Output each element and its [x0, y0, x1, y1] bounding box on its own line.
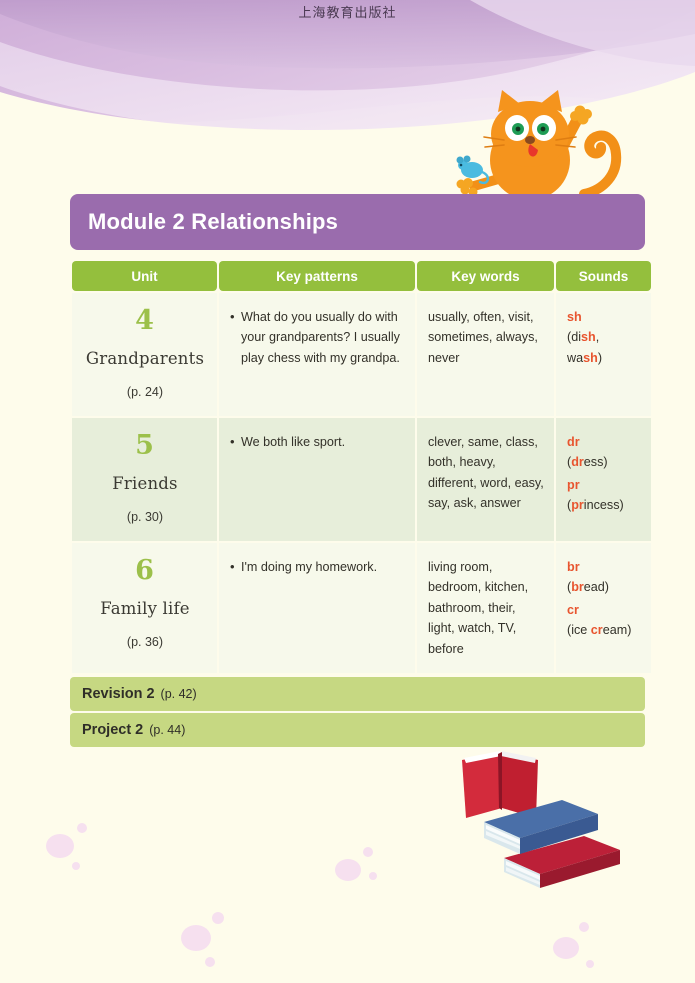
- unit-page: (p. 30): [83, 507, 207, 527]
- revision-page: (p. 42): [161, 687, 197, 701]
- sound-key: pr: [567, 475, 641, 495]
- sounds-cell: br (bread) cr (ice cream): [556, 543, 651, 673]
- sound-key: dr: [567, 432, 641, 452]
- sound-group: pr (princess): [567, 475, 641, 516]
- module-content: Module 2 Relationships Unit Key patterns…: [70, 194, 645, 747]
- sound-example: wash): [567, 348, 641, 368]
- unit-name: Grandparents: [83, 346, 207, 373]
- module-header: Module 2 Relationships: [70, 194, 645, 250]
- sound-example: (princess): [567, 495, 641, 515]
- key-words-cell: clever, same, class, both, heavy, differ…: [417, 418, 554, 541]
- table-row: 6 Family life (p. 36) I'm doing my homew…: [72, 543, 651, 673]
- key-words-cell: living room, bedroom, kitchen, bathroom,…: [417, 543, 554, 673]
- sound-group: dr (dress): [567, 432, 641, 473]
- sound-example: (ice cream): [567, 620, 641, 640]
- sound-key: sh: [567, 307, 641, 327]
- publisher-name: 上海教育出版社: [0, 2, 695, 21]
- unit-cell: 5 Friends (p. 30): [72, 418, 217, 541]
- unit-number: 4: [83, 307, 207, 334]
- key-patterns-cell: I'm doing my homework.: [219, 543, 415, 673]
- key-patterns-cell: We both like sport.: [219, 418, 415, 541]
- key-pattern-item: We both like sport.: [230, 432, 405, 452]
- column-header-sounds: Sounds: [556, 261, 651, 291]
- sounds-cell: sh (dish, wash): [556, 293, 651, 416]
- table-row: 4 Grandparents (p. 24) What do you usual…: [72, 293, 651, 416]
- syllabus-table: Unit Key patterns Key words Sounds 4 Gra…: [70, 259, 653, 675]
- unit-name: Friends: [83, 471, 207, 498]
- sound-key: br: [567, 557, 641, 577]
- revision-title: Revision 2: [82, 686, 155, 702]
- sound-example: (dish,: [567, 327, 641, 347]
- column-header-key-words: Key words: [417, 261, 554, 291]
- sound-group: cr (ice cream): [567, 600, 641, 641]
- column-header-unit: Unit: [72, 261, 217, 291]
- key-pattern-item: I'm doing my homework.: [230, 557, 405, 577]
- key-pattern-item: What do you usually do with your grandpa…: [230, 307, 405, 368]
- unit-number: 6: [83, 557, 207, 584]
- sound-group: sh (dish, wash): [567, 307, 641, 368]
- unit-cell: 4 Grandparents (p. 24): [72, 293, 217, 416]
- sounds-cell: dr (dress) pr (princess): [556, 418, 651, 541]
- unit-name: Family life: [83, 596, 207, 623]
- sound-example: (bread): [567, 577, 641, 597]
- unit-page: (p. 36): [83, 632, 207, 652]
- table-header-row: Unit Key patterns Key words Sounds: [72, 261, 651, 291]
- sound-group: br (bread): [567, 557, 641, 598]
- key-patterns-cell: What do you usually do with your grandpa…: [219, 293, 415, 416]
- sound-example: (dress): [567, 452, 641, 472]
- project-page: (p. 44): [149, 723, 185, 737]
- project-title: Project 2: [82, 722, 143, 738]
- table-row: 5 Friends (p. 30) We both like sport. cl…: [72, 418, 651, 541]
- unit-cell: 6 Family life (p. 36): [72, 543, 217, 673]
- key-words-cell: usually, often, visit, sometimes, always…: [417, 293, 554, 416]
- revision-bar[interactable]: Revision 2 (p. 42): [70, 677, 645, 711]
- unit-page: (p. 24): [83, 382, 207, 402]
- module-title: Module 2 Relationships: [88, 209, 338, 235]
- cat-with-mouse-illustration: [432, 82, 632, 204]
- sound-key: cr: [567, 600, 641, 620]
- books-illustration: [444, 742, 624, 890]
- unit-number: 5: [83, 432, 207, 459]
- column-header-key-patterns: Key patterns: [219, 261, 415, 291]
